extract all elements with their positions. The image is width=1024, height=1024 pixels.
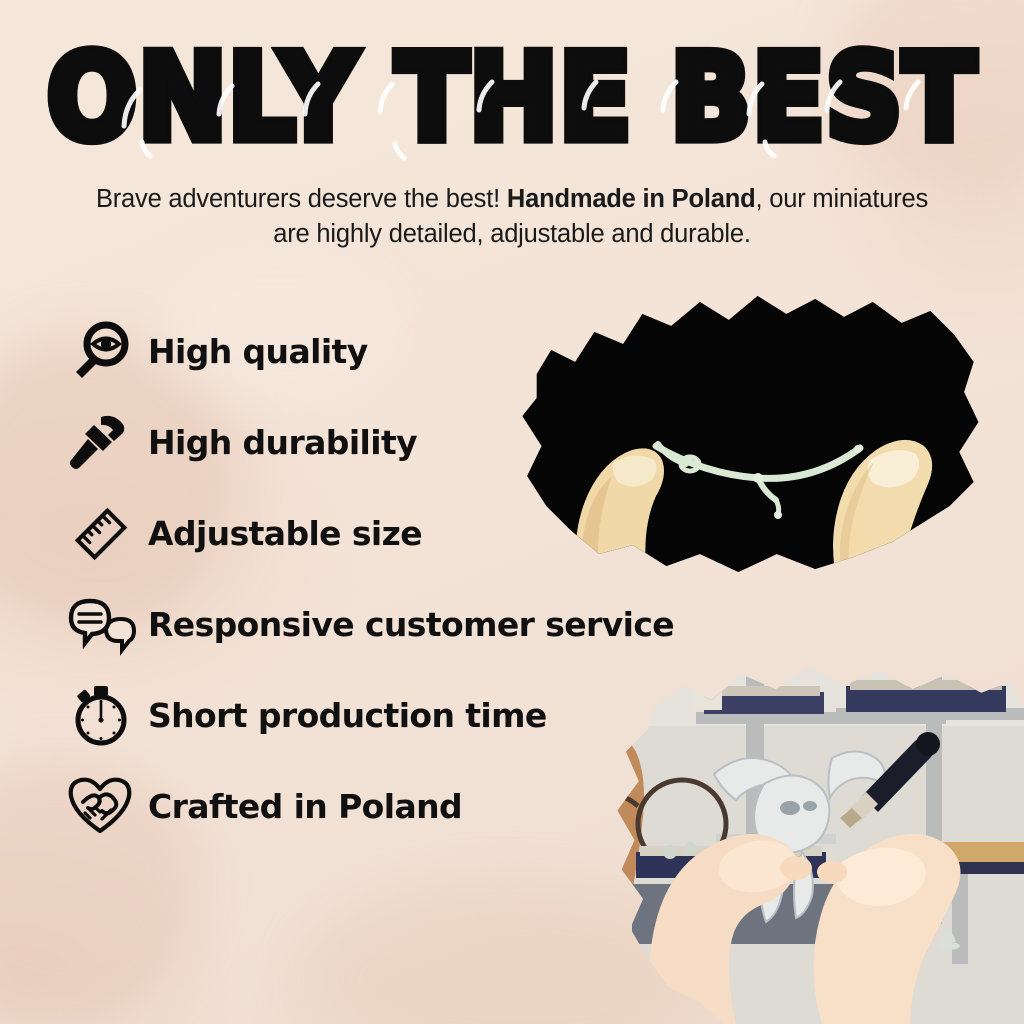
feature-label: High durability (148, 423, 417, 462)
feature-label: Short production time (148, 696, 547, 735)
feature-label: High quality (148, 332, 368, 371)
page-title: ONLY THE BEST (0, 38, 1024, 142)
speech-bubbles-icon (62, 589, 140, 661)
subtitle-bold: Handmade in Poland (507, 185, 756, 213)
feature-label: Crafted in Poland (148, 787, 462, 826)
feature-label: Responsive customer service (148, 605, 674, 644)
stopwatch-icon (62, 680, 140, 752)
magnifier-eye-icon (62, 316, 140, 388)
photo-content (596, 656, 1024, 1024)
workshop-painting-photo (596, 656, 1024, 1024)
flexible-miniature-photo (508, 284, 988, 584)
photo-content (508, 284, 988, 584)
ruler-icon (62, 498, 140, 570)
photo-torn-mask (508, 284, 988, 584)
infographic-page: ONLY THE BEST Brave adventurers deserve … (0, 0, 1024, 1024)
page-title-text: ONLY THE BEST (47, 38, 977, 157)
photo-torn-mask (596, 656, 1024, 1024)
page-subtitle: Brave adventurers deserve the best! Hand… (82, 182, 942, 252)
handshake-heart-icon (62, 771, 140, 843)
feature-label: Adjustable size (148, 514, 422, 553)
subtitle-lead: Brave adventurers deserve the best! (96, 185, 507, 213)
hammer-icon (62, 407, 140, 479)
